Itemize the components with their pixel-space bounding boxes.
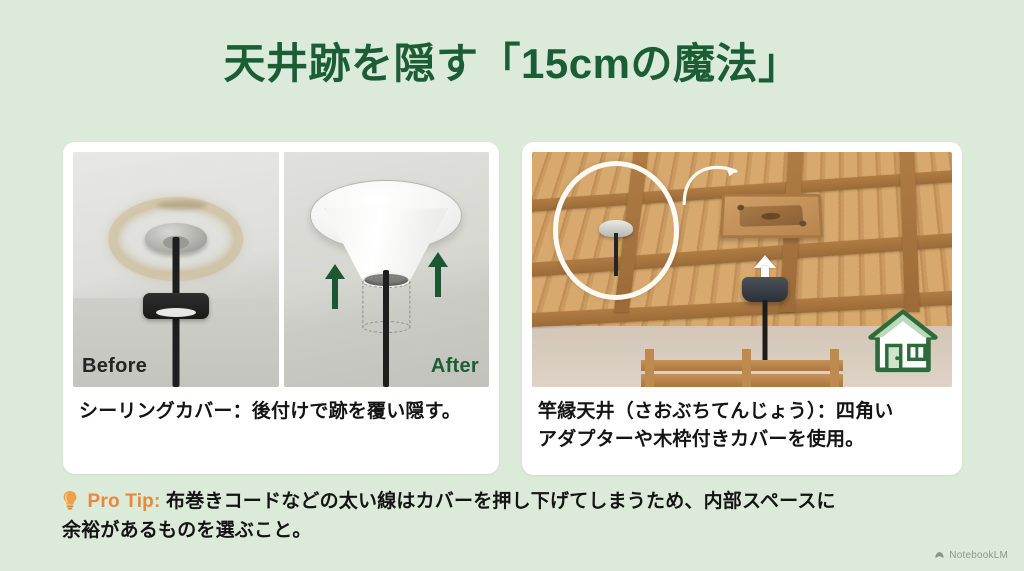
caption-line-2: アダプターや木枠付きカバーを使用。 <box>538 426 948 454</box>
before-after-photo-row: Before After <box>73 152 489 387</box>
wood-rail-post <box>830 349 839 387</box>
pro-tip: Pro Tip: 布巻きコードなどの太い線はカバーを押し下げてしまうため、内部ス… <box>62 487 967 546</box>
ceiling-cover-caption: シーリングカバー：後付けで跡を覆い隠す。 <box>73 387 489 426</box>
pro-tip-text-2: 余裕があるものを選ぶこと。 <box>62 516 967 545</box>
after-photo: After <box>284 152 490 387</box>
light-disc <box>143 293 209 319</box>
ceiling-cover-card: Before After シーリングカバー：後付けで跡を覆い隠す。 <box>63 142 499 474</box>
page-title: 天井跡を隠す「15cmの魔法」 <box>0 30 1024 91</box>
after-label: After <box>431 355 479 378</box>
wood-rail-post <box>742 349 751 387</box>
before-label: Before <box>82 355 147 378</box>
notebooklm-icon <box>934 550 945 561</box>
square-wood-adapter <box>720 194 823 238</box>
power-cord <box>383 270 389 388</box>
saobuchi-illustration <box>532 152 952 387</box>
caption-line-1: 竿縁天井（さおぶちてんじょう）：四角い <box>538 398 948 426</box>
lightbulb-icon <box>62 490 78 510</box>
pro-tip-label: Pro Tip: <box>87 491 160 512</box>
saobuchi-ceiling-caption: 竿縁天井（さおぶちてんじょう）：四角い アダプターや木枠付きカバーを使用。 <box>532 387 952 453</box>
house-icon <box>866 307 940 377</box>
pendant-cord <box>763 300 768 361</box>
highlight-circle <box>553 161 679 300</box>
notebooklm-watermark: NotebookLM <box>934 550 1008 561</box>
before-photo: Before <box>73 152 279 387</box>
adapter-plate <box>740 205 803 227</box>
pro-tip-text-1: 布巻きコードなどの太い線はカバーを押し下げてしまうため、内部スペースに <box>166 491 836 512</box>
saobuchi-ceiling-card: 竿縁天井（さおぶちてんじょう）：四角い アダプターや木枠付きカバーを使用。 <box>522 142 962 475</box>
pro-tip-line-1: Pro Tip: 布巻きコードなどの太い線はカバーを押し下げてしまうため、内部ス… <box>62 487 967 516</box>
screw-icon <box>799 221 806 227</box>
power-cord <box>614 233 618 275</box>
watermark-text: NotebookLM <box>949 550 1008 561</box>
black-ceiling-cover <box>742 277 788 303</box>
wood-rail-post <box>645 349 654 387</box>
